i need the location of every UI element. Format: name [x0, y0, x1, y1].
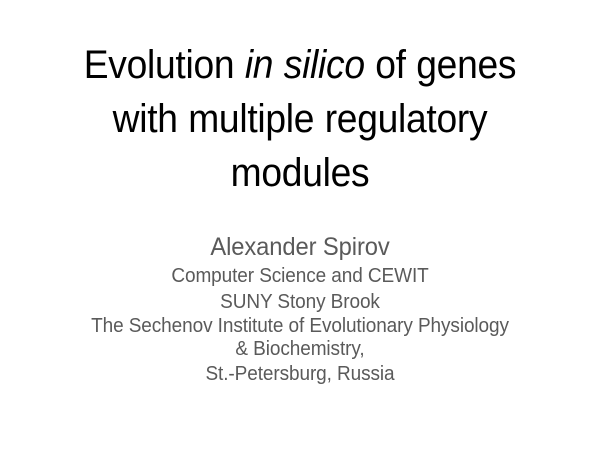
slide-title: Evolution in silico of genes with multip…: [30, 38, 570, 200]
title-line-1-italic-in-silico: in silico: [245, 43, 365, 87]
title-line-2: with multiple regulatory: [49, 92, 551, 146]
subtitle-affiliation-institute: The Sechenov Institute of Evolutionary P…: [82, 315, 519, 361]
title-line-1-before: Evolution: [84, 43, 245, 87]
title-line-3-text: modules: [231, 151, 370, 195]
subtitle-affiliation-department: Computer Science and CEWIT: [82, 263, 519, 289]
presentation-title-slide: Evolution in silico of genes with multip…: [0, 0, 600, 450]
subtitle-affiliation-university: SUNY Stony Brook: [82, 289, 519, 315]
slide-subtitle: Alexander Spirov Computer Science and CE…: [70, 232, 530, 387]
title-line-3: modules: [49, 146, 551, 200]
title-line-1: Evolution in silico of genes: [49, 38, 551, 92]
title-line-2-text: with multiple regulatory: [113, 97, 488, 141]
title-line-1-after: of genes: [365, 43, 516, 87]
subtitle-author-name: Alexander Spirov: [82, 232, 519, 263]
subtitle-location: St.-Petersburg, Russia: [82, 361, 519, 387]
